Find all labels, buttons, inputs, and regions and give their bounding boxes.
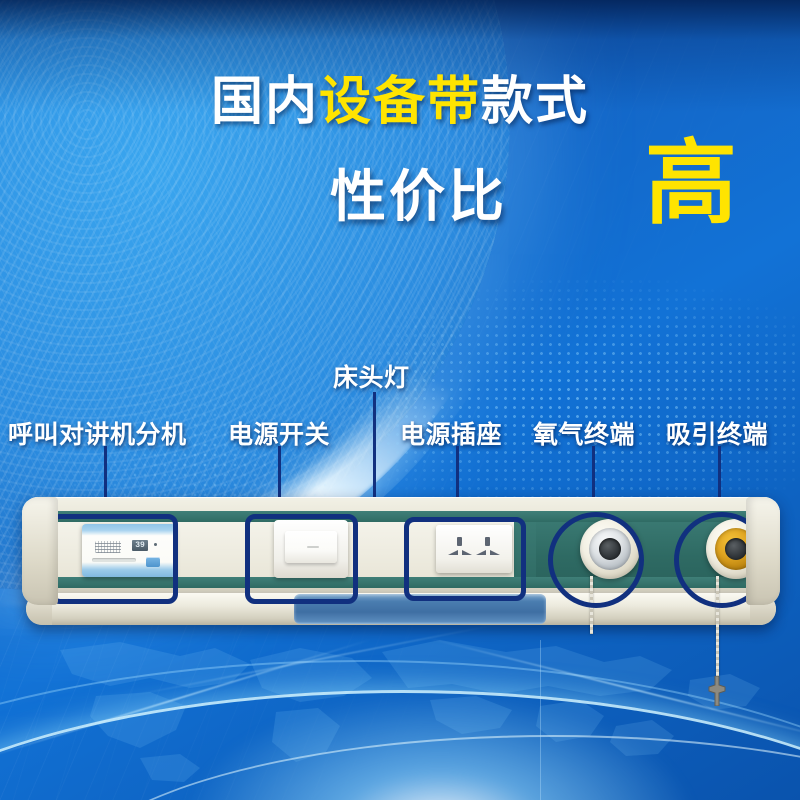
- pull-cord-weight[interactable]: [708, 676, 726, 706]
- headline-part-1: 国内: [211, 73, 319, 131]
- highlight-box-intercom: [50, 514, 178, 604]
- headline-line-2: 性价比: [330, 152, 507, 233]
- highlight-box-power-switch: [245, 514, 358, 604]
- callout-label-bed-lamp: 床头灯: [333, 358, 410, 394]
- promo-image: 国内设备带款式 性价比 高 呼叫对讲机分机 电源开关 床头灯 电源插座 氧气终端…: [0, 0, 800, 800]
- unit-end-cap-right: [746, 497, 780, 605]
- headline-part-2: 设备带: [319, 73, 481, 131]
- callout-label-suction-terminal: 吸引终端: [666, 415, 768, 451]
- unit-end-cap-left: [22, 497, 58, 605]
- headline-part-3: 款式: [481, 73, 589, 131]
- highlight-box-power-socket: [404, 517, 526, 601]
- headline-emphasis: 高: [645, 138, 737, 230]
- headline-block: 国内设备带款式: [0, 76, 800, 128]
- callout-label-intercom: 呼叫对讲机分机: [8, 415, 187, 451]
- headline-line-1: 国内设备带款式: [0, 76, 800, 128]
- callout-label-power-socket: 电源插座: [400, 415, 502, 451]
- callout-label-oxygen-terminal: 氧气终端: [533, 415, 635, 451]
- highlight-circle-oxygen: [548, 512, 644, 608]
- grid-line-vertical-1: [540, 640, 541, 800]
